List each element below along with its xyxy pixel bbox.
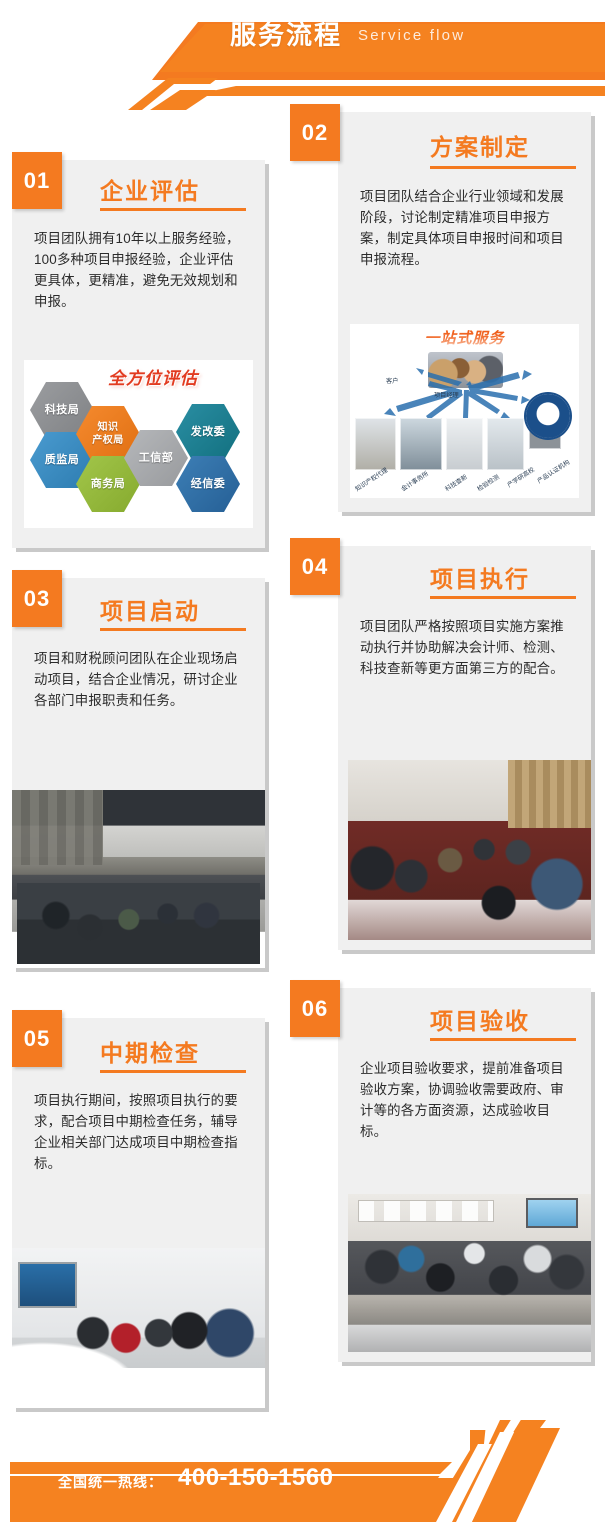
step-badge-06: 06 <box>290 980 340 1037</box>
card-photo-03 <box>12 790 265 968</box>
card-title-rule-01 <box>100 208 246 211</box>
card-photo-06 <box>348 1194 591 1352</box>
hexagon-label: 发改委 <box>191 426 226 439</box>
card-title-rule-03 <box>100 628 246 631</box>
header-title-en: Service flow <box>358 27 465 44</box>
node-thumb-inspection <box>487 418 524 470</box>
photo-conference <box>348 1194 591 1352</box>
card-title-rule-05 <box>100 1070 246 1073</box>
step-card-06: 项目验收 企业项目验收要求，提前准备项目验收方案，协调验收需要政府、审计等的各方… <box>338 988 591 1362</box>
photo-working-session <box>348 760 591 940</box>
hexagon-infographic-title: 全方位评估 <box>108 364 198 389</box>
step-badge-01: 01 <box>12 152 62 209</box>
card-title-06: 项目验收 <box>430 1002 530 1036</box>
step-badge-03: 03 <box>12 570 62 627</box>
photo-meeting-room <box>12 790 265 968</box>
card-title-04: 项目执行 <box>430 560 530 594</box>
hexagon-label: 质监局 <box>45 454 80 467</box>
card-title-01: 企业评估 <box>100 172 200 206</box>
card-title-05: 中期检查 <box>100 1034 200 1068</box>
hexagon-label: 工信部 <box>139 452 174 465</box>
card-title-rule-06 <box>430 1038 576 1041</box>
hexagon-label: 经信委 <box>191 478 226 491</box>
hexagon-ndrc: 发改委 <box>176 404 240 460</box>
step-card-05: 中期检查 项目执行期间，按照项目执行的要求，配合项目中期检查任务，辅导企业相关部… <box>12 1018 265 1408</box>
card-title-rule-04 <box>430 596 576 599</box>
one-stop-service-diagram: 一站式服务 <box>350 324 579 498</box>
hexagon-label: 科技局 <box>45 404 80 417</box>
service-flow-infographic: 服务流程 Service flow 企业评估 项目团队拥有10年以上服务经验，1… <box>0 0 605 1538</box>
iso-seal-icon: ISO <box>526 394 570 438</box>
card-body-05: 项目执行期间，按照项目执行的要求，配合项目中期检查任务，辅导企业相关部门达成项目… <box>34 1090 246 1174</box>
one-stop-label-client: 客户 <box>386 376 398 385</box>
card-photo-05 <box>12 1248 265 1408</box>
step-badge-05: 05 <box>12 1010 62 1067</box>
step-badge-02: 02 <box>290 104 340 161</box>
projector-screen-icon <box>528 1200 577 1225</box>
photo-site-visit <box>12 1248 265 1408</box>
hexagon-infographic: 全方位评估 科技局 质监局 知识 产权局 商务局 工信部 发改委 经信委 <box>24 360 253 528</box>
card-body-03: 项目和财税顾问团队在企业现场启动项目，结合企业情况，研讨企业各部门申报职责和任务… <box>34 648 246 711</box>
step-card-02: 方案制定 项目团队结合企业行业领域和发展阶段，讨论制定精准项目申报方案，制定具体… <box>338 112 591 512</box>
card-title-rule-02 <box>430 166 576 169</box>
step-card-04: 项目执行 项目团队严格按照项目实施方案推动执行并协助解决会计师、检测、科技查新等… <box>338 546 591 950</box>
one-stop-label-pm: 项目经理 <box>434 390 459 399</box>
node-thumb-ip-agency <box>355 418 396 470</box>
iso-seal-label: ISO <box>540 411 556 421</box>
footer-hotline-label: 全国统一热线： <box>58 1472 163 1492</box>
card-body-04: 项目团队严格按照项目实施方案推动执行并协助解决会计师、检测、科技查新等更方面第三… <box>360 616 574 679</box>
step-badge-04: 04 <box>290 538 340 595</box>
footer-hotline-number: 400-150-1560 <box>178 1464 333 1492</box>
header-banner-shape <box>0 0 605 110</box>
header-banner: 服务流程 Service flow <box>0 0 605 110</box>
hexagon-jingxin-committee: 经信委 <box>176 456 240 512</box>
card-body-02: 项目团队结合企业行业领域和发展阶段，讨论制定精准项目申报方案，制定具体项目申报时… <box>360 186 574 270</box>
step-card-03: 项目启动 项目和财税顾问团队在企业现场启动项目，结合企业情况，研讨企业各部门申报… <box>12 578 265 968</box>
step-card-01: 企业评估 项目团队拥有10年以上服务经验，100多种项目申报经验，企业评估更具体… <box>12 160 265 548</box>
hexagon-label: 知识 产权局 <box>92 421 124 447</box>
card-body-06: 企业项目验收要求，提前准备项目验收方案，协调验收需要政府、审计等的各方面资源，达… <box>360 1058 574 1142</box>
card-body-01: 项目团队拥有10年以上服务经验，100多种项目申报经验，企业评估更具体，更精准，… <box>34 228 246 312</box>
header-title-cn: 服务流程 <box>230 20 342 50</box>
hexagon-label: 商务局 <box>91 478 126 491</box>
node-thumb-accounting <box>400 418 441 470</box>
node-thumb-tech-search <box>446 418 483 470</box>
card-photo-04 <box>348 760 591 940</box>
card-title-02: 方案制定 <box>430 128 530 162</box>
card-title-03: 项目启动 <box>100 592 200 626</box>
